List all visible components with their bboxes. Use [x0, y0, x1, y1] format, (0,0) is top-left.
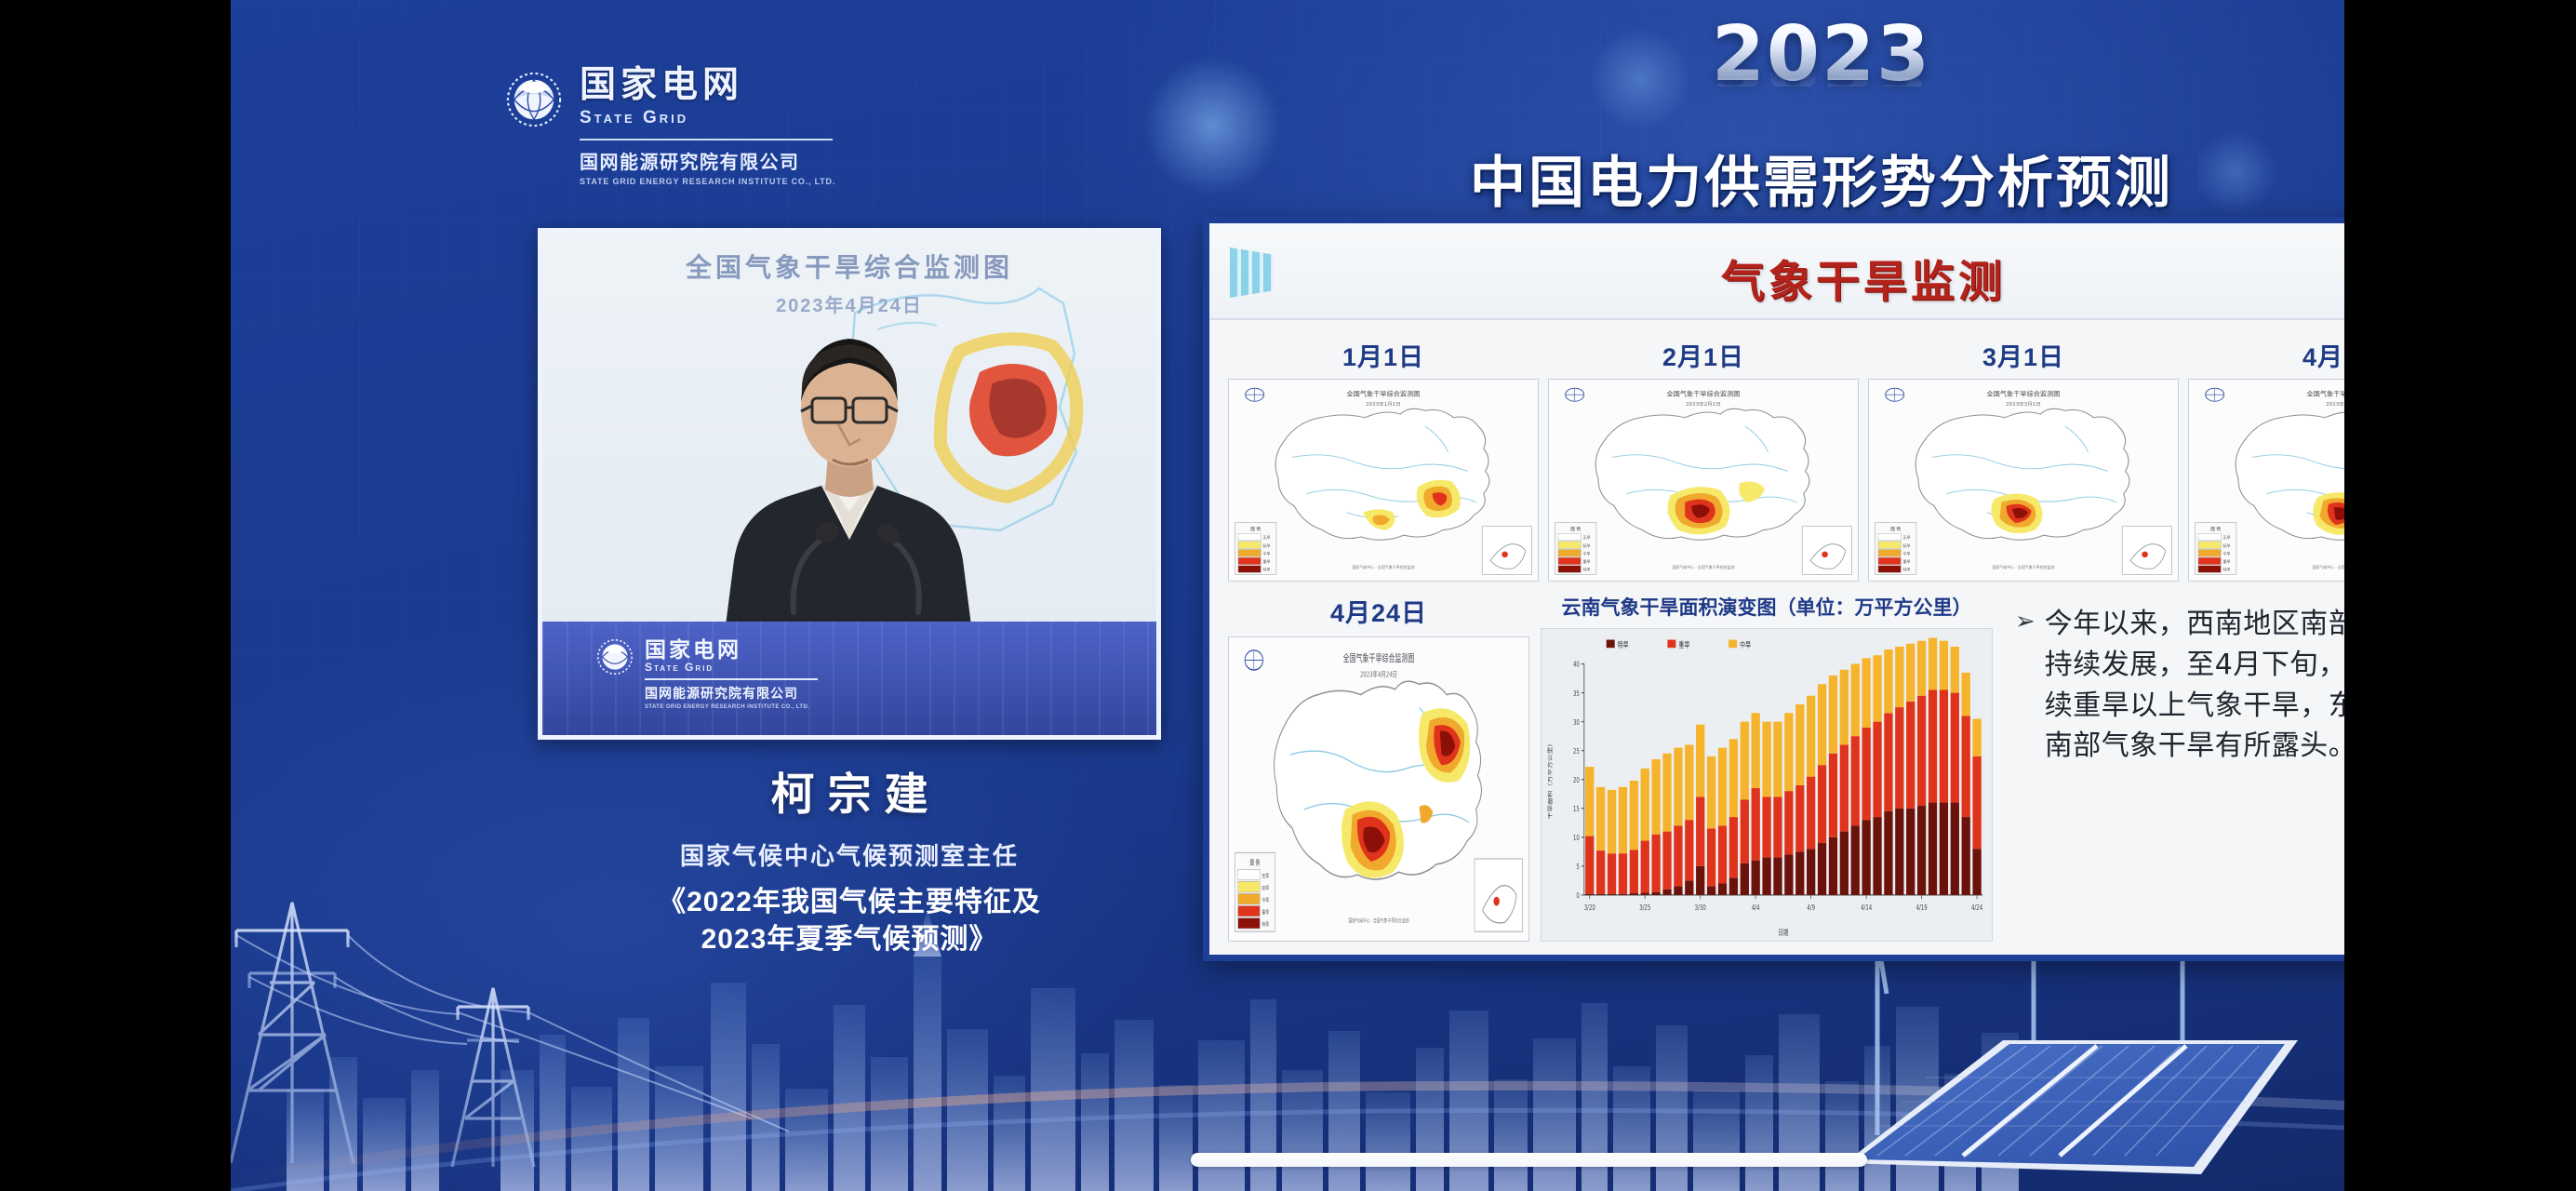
svg-text:国家气候中心 · 全国气象干旱综合监测: 国家气候中心 · 全国气象干旱综合监测 [1352, 565, 1414, 569]
brand-name-cn: 国家电网 [580, 67, 835, 105]
podium-brand: 国家电网 State Grid 国网能源研究院有限公司 STATE GRID E… [596, 638, 818, 710]
summary-note-text: 今年以来，西南地区南部气象干旱持续发展，至4月下旬，云南大部持续重旱以上气象干旱… [2045, 604, 2344, 767]
svg-text:图 例: 图 例 [2210, 526, 2221, 532]
svg-text:3/20: 3/20 [1584, 903, 1595, 912]
chart-caption: 云南气象干旱面积演变图（单位：万平方公里） [1541, 591, 1993, 628]
svg-text:30: 30 [1573, 718, 1580, 727]
podium-divider [645, 678, 818, 680]
svg-text:图 例: 图 例 [1250, 526, 1261, 532]
latest-map-column: 4月24日 全国气象干旱综合监测图 2023年4月24日 图 例 无旱轻旱中旱 … [1228, 591, 1529, 942]
svg-text:全国气象干旱综合监测图: 全国气象干旱综合监测图 [1667, 389, 1741, 397]
panel-body: 1月1日 2月1日 3月1日 4月1日 全国气象干旱综合监测图 2023年1月1… [1209, 320, 2344, 955]
svg-text:特旱: 特旱 [1263, 568, 1271, 572]
speaker-name: 柯宗建 [510, 758, 1189, 823]
svg-text:4/9: 4/9 [1807, 903, 1815, 912]
svg-text:2023年4月24日: 2023年4月24日 [1360, 669, 1397, 679]
letterbox-left [0, 0, 231, 1191]
panel-header: 气象干旱监测 NCC [1209, 223, 2344, 320]
note-line-5: 干旱有所露头。 [2158, 729, 2344, 762]
speaker-topic-line1: 《2022年我国气候主要特征及 [510, 885, 1189, 920]
svg-text:无旱: 无旱 [1263, 535, 1271, 540]
speaker-role: 国家气候中心气候预测室主任 [510, 837, 1189, 872]
drought-map-apr: 全国气象干旱综合监测图 2023年4月1日 图 例 无旱轻旱中旱 重旱特旱 国家… [2188, 379, 2344, 582]
svg-text:轻旱: 轻旱 [1263, 543, 1271, 548]
panel-lower-region: 4月24日 全国气象干旱综合监测图 2023年4月24日 图 例 无旱轻旱中旱 … [1224, 591, 2344, 942]
svg-text:4/14: 4/14 [1861, 903, 1872, 912]
svg-text:15: 15 [1573, 805, 1580, 813]
svg-text:日期: 日期 [1778, 929, 1788, 937]
svg-text:无旱: 无旱 [1583, 535, 1591, 540]
svg-text:全国气象干旱综合监测图: 全国气象干旱综合监测图 [1987, 389, 2061, 397]
drought-map-feb: 全国气象干旱综合监测图 2023年2月1日 图 例 无旱轻旱中旱 重旱特旱 国家… [1548, 379, 1859, 582]
svg-text:35: 35 [1573, 689, 1580, 698]
date-label-row: 1月1日 2月1日 3月1日 4月1日 [1224, 329, 2344, 379]
chart-column: 云南气象干旱面积演变图（单位：万平方公里） 特旱重旱中旱051015202530… [1541, 591, 1993, 942]
svg-text:特旱: 特旱 [1903, 568, 1911, 572]
svg-text:重旱: 重旱 [1678, 640, 1689, 649]
svg-text:5: 5 [1576, 863, 1579, 871]
state-grid-globe-icon [596, 638, 634, 680]
date-label: 3月1日 [1868, 329, 2179, 379]
speaker-caption: 柯宗建 国家气候中心气候预测室主任 《2022年我国气候主要特征及 2023年夏… [510, 758, 1189, 958]
svg-text:2023年3月1日: 2023年3月1日 [2006, 400, 2041, 408]
panel-title: 气象干旱监测 [1209, 246, 2344, 310]
summary-note: ➢ 今年以来，西南地区南部气象干旱持续发展，至4月下旬，云南大部持续重旱以上气象… [2015, 604, 2344, 767]
headline-title: 中国电力供需形势分析预测 [1273, 138, 2344, 219]
svg-text:重旱: 重旱 [1263, 559, 1271, 564]
svg-text:4/19: 4/19 [1916, 903, 1928, 912]
podium-institute-cn: 国网能源研究院有限公司 [645, 684, 818, 703]
svg-text:中旱: 中旱 [1740, 639, 1751, 650]
institute-name-en: STATE GRID ENERGY RESEARCH INSTITUTE CO.… [580, 177, 835, 186]
slide-content-panel: 气象干旱监测 NCC [1203, 217, 2344, 961]
svg-text:2023年1月1日: 2023年1月1日 [1366, 400, 1401, 408]
svg-text:重旱: 重旱 [2223, 559, 2231, 564]
svg-text:3/25: 3/25 [1639, 903, 1650, 912]
headline-year-reflection: 2023 [1273, 66, 2344, 87]
svg-text:10: 10 [1573, 834, 1580, 842]
svg-text:4/24: 4/24 [1971, 903, 1982, 912]
svg-text:重旱: 重旱 [1903, 559, 1911, 564]
institute-name-cn: 国网能源研究院有限公司 [580, 147, 835, 174]
svg-text:无旱: 无旱 [1261, 874, 1269, 880]
svg-text:2023年4月1日: 2023年4月1日 [2326, 400, 2344, 408]
drought-map-apr24: 全国气象干旱综合监测图 2023年4月24日 图 例 无旱轻旱中旱 重旱特旱 国… [1228, 636, 1529, 942]
state-grid-brand: 国家电网 State Grid 国网能源研究院有限公司 STATE GRID E… [505, 67, 835, 186]
bullet-arrow-icon: ➢ [2015, 604, 2035, 767]
video-player-stage: 国家电网 State Grid 国网能源研究院有限公司 STATE GRID E… [0, 0, 2576, 1191]
drought-area-chart: 特旱重旱中旱05101520253035403/203/253/304/44/9… [1541, 628, 1993, 942]
svg-text:中旱: 中旱 [1583, 552, 1591, 556]
svg-text:特旱: 特旱 [1583, 568, 1591, 572]
svg-text:轻旱: 轻旱 [2223, 543, 2231, 548]
svg-text:中旱: 中旱 [2223, 552, 2231, 556]
svg-text:2023年2月1日: 2023年2月1日 [1686, 400, 1721, 408]
svg-text:图 例: 图 例 [1250, 858, 1261, 866]
letterbox-right [2344, 0, 2576, 1191]
svg-text:国家气候中心 · 全国气象干旱综合监测: 国家气候中心 · 全国气象干旱综合监测 [1992, 565, 2054, 569]
latest-map-date: 4月24日 [1228, 591, 1529, 636]
svg-text:25: 25 [1573, 747, 1580, 756]
brand-name-en: State Grid [580, 105, 835, 132]
speaker-video-inset[interactable]: 全国气象干旱综合监测图 2023年4月24日 [538, 228, 1161, 740]
svg-text:重旱: 重旱 [1583, 559, 1591, 564]
svg-text:0: 0 [1576, 891, 1579, 900]
brand-divider [580, 139, 833, 141]
svg-text:3/30: 3/30 [1695, 903, 1706, 912]
svg-text:20: 20 [1573, 776, 1580, 784]
podium-institute-en: STATE GRID ENERGY RESEARCH INSTITUTE CO.… [645, 704, 818, 710]
svg-text:全国气象干旱综合监测图: 全国气象干旱综合监测图 [2307, 389, 2344, 397]
svg-text:4/4: 4/4 [1752, 903, 1760, 912]
note-line-1: 今年以来，西南地区南部气 [2045, 608, 2344, 640]
svg-text:轻旱: 轻旱 [1903, 543, 1911, 548]
drought-map-mar: 全国气象干旱综合监测图 2023年3月1日 图 例 无旱轻旱中旱 重旱特旱 国家… [1868, 379, 2179, 582]
state-grid-globe-icon [505, 71, 563, 128]
svg-text:全国气象干旱综合监测图: 全国气象干旱综合监测图 [1343, 651, 1415, 664]
date-label: 4月1日 [2188, 329, 2344, 379]
drought-map-row: 全国气象干旱综合监测图 2023年1月1日 图 例 无旱轻旱中旱 重旱特旱 国家… [1224, 379, 2344, 582]
svg-text:干旱面积（万平方公里）: 干旱面积（万平方公里） [1546, 740, 1553, 820]
svg-text:40: 40 [1573, 661, 1580, 669]
svg-text:图 例: 图 例 [1570, 526, 1581, 532]
svg-text:国家气候中心 · 全国气象干旱综合监测: 国家气候中心 · 全国气象干旱综合监测 [1672, 565, 1734, 569]
svg-text:图 例: 图 例 [1890, 526, 1901, 532]
podium-brand-en: State Grid [645, 661, 818, 674]
date-label: 2月1日 [1548, 329, 1859, 379]
svg-text:全国气象干旱综合监测图: 全国气象干旱综合监测图 [1347, 389, 1421, 397]
slide-headline: 2023 2023 中国电力供需形势分析预测 [1273, 19, 2344, 219]
svg-text:特旱: 特旱 [1618, 639, 1629, 650]
glow-dot [1142, 56, 1282, 195]
svg-text:中旱: 中旱 [1903, 552, 1911, 556]
svg-text:轻旱: 轻旱 [1583, 543, 1591, 548]
date-label: 1月1日 [1228, 329, 1539, 379]
playback-progress-bar[interactable] [1191, 1153, 1867, 1167]
podium-brand-cn: 国家电网 [645, 638, 818, 661]
podium: 国家电网 State Grid 国网能源研究院有限公司 STATE GRID E… [542, 622, 1156, 735]
svg-text:国家气候中心 · 全国气象干旱综合监测: 国家气候中心 · 全国气象干旱综合监测 [2312, 565, 2344, 569]
summary-note-column: ➢ 今年以来，西南地区南部气象干旱持续发展，至4月下旬，云南大部持续重旱以上气象… [2004, 591, 2344, 942]
svg-text:无旱: 无旱 [1903, 535, 1911, 540]
svg-text:中旱: 中旱 [1263, 552, 1271, 556]
svg-text:无旱: 无旱 [2223, 535, 2231, 540]
svg-text:特旱: 特旱 [2223, 568, 2231, 572]
presentation-slide: 国家电网 State Grid 国网能源研究院有限公司 STATE GRID E… [231, 0, 2344, 1191]
speaker-topic-line2: 2023年夏季气候预测》 [510, 922, 1189, 957]
drought-map-jan: 全国气象干旱综合监测图 2023年1月1日 图 例 无旱轻旱中旱 重旱特旱 国家… [1228, 379, 1539, 582]
